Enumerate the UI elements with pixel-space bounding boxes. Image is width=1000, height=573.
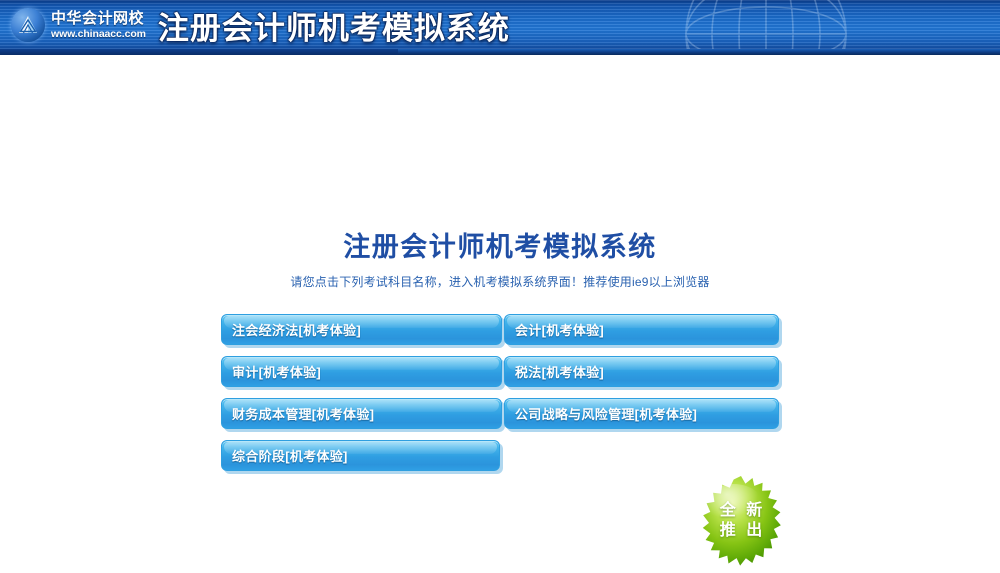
subject-button-label: 财务成本管理[机考体验] <box>232 404 374 423</box>
subject-button-accounting[interactable]: 会计[机考体验] <box>504 314 779 345</box>
subject-button-row: 审计[机考体验] 税法[机考体验] <box>221 356 779 387</box>
subject-button-label: 综合阶段[机考体验] <box>232 446 348 465</box>
header-title: 注册会计师机考模拟系统 <box>158 3 510 48</box>
subject-button-label: 审计[机考体验] <box>232 362 321 381</box>
logo-website-url: www.chinaacc.com <box>51 29 146 40</box>
subject-button-corporate-strategy-risk-management[interactable]: 公司战略与风险管理[机考体验] <box>504 398 779 429</box>
chinaacc-mountain-logo-icon <box>11 8 45 42</box>
subject-button-tax-law[interactable]: 税法[机考体验] <box>504 356 779 387</box>
site-logo[interactable]: 中华会计网校 www.chinaacc.com <box>11 8 146 42</box>
subject-button-economic-law[interactable]: 注会经济法[机考体验] <box>221 314 502 345</box>
page-title: 注册会计师机考模拟系统 <box>0 225 1000 264</box>
logo-company-name: 中华会计网校 <box>51 11 146 26</box>
site-header: 中华会计网校 www.chinaacc.com 注册会计师机考模拟系统 <box>0 0 1000 55</box>
subject-button-label: 公司战略与风险管理[机考体验] <box>515 404 697 423</box>
subject-button-auditing[interactable]: 审计[机考体验] <box>221 356 502 387</box>
header-content: 中华会计网校 www.chinaacc.com 注册会计师机考模拟系统 <box>0 0 510 50</box>
subject-button-comprehensive-stage[interactable]: 综合阶段[机考体验] <box>221 440 500 471</box>
row-spacer <box>500 440 779 471</box>
logo-text-block: 中华会计网校 www.chinaacc.com <box>51 11 146 40</box>
subject-button-grid: 注会经济法[机考体验] 会计[机考体验] 审计[机考体验] 税法[机考体验] 财… <box>221 314 779 471</box>
new-release-badge[interactable]: 全 新 推 出 <box>694 474 788 568</box>
globe-wireframe-icon <box>680 0 852 55</box>
page-subtitle: 请您点击下列考试科目名称，进入机考模拟系统界面！推荐使用ie9以上浏览器 <box>0 273 1000 290</box>
subject-button-row: 财务成本管理[机考体验] 公司战略与风险管理[机考体验] <box>221 398 779 429</box>
starburst-badge-icon <box>694 474 788 568</box>
main-content: 注册会计师机考模拟系统 请您点击下列考试科目名称，进入机考模拟系统界面！推荐使用… <box>0 55 1000 537</box>
subject-button-row: 注会经济法[机考体验] 会计[机考体验] <box>221 314 779 345</box>
subject-button-label: 会计[机考体验] <box>515 320 604 339</box>
subject-button-row: 综合阶段[机考体验] <box>221 440 779 471</box>
subject-button-label: 税法[机考体验] <box>515 362 604 381</box>
subject-button-financial-cost-management[interactable]: 财务成本管理[机考体验] <box>221 398 502 429</box>
subject-button-label: 注会经济法[机考体验] <box>232 320 361 339</box>
